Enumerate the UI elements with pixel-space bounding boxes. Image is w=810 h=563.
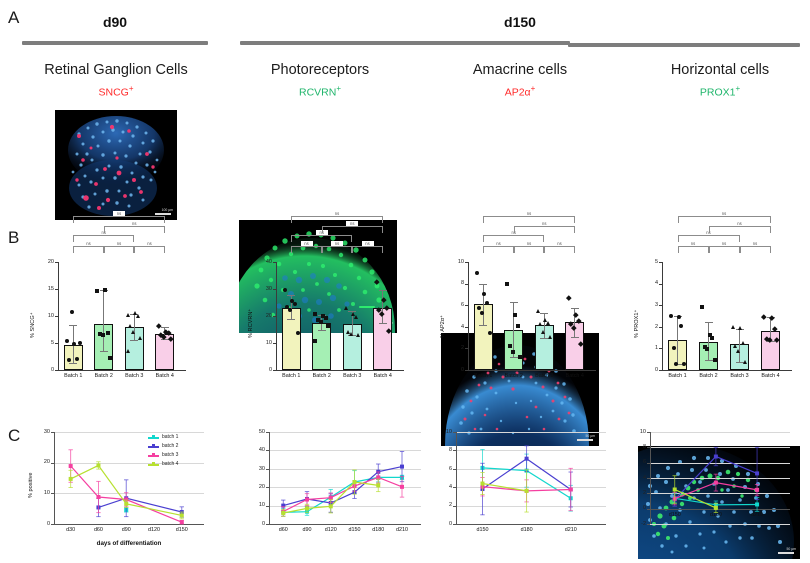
data-point <box>548 335 552 339</box>
series-marker <box>329 504 333 508</box>
data-point <box>313 312 317 316</box>
error-cap-bottom-1 <box>479 325 487 326</box>
data-point <box>731 325 735 329</box>
data-point <box>762 315 767 320</box>
y-tick-label: 6 <box>442 302 464 308</box>
error-cap-bottom-3 <box>130 340 138 341</box>
micrograph-sncg: 100 µm <box>55 110 177 220</box>
series-line-2 <box>283 467 402 506</box>
data-point <box>705 347 709 351</box>
series-marker <box>400 465 404 469</box>
ns-label-3: ns <box>749 241 761 246</box>
y-tick-label: 10 <box>442 259 464 265</box>
y-tick <box>659 370 662 371</box>
ns-bracket-1 <box>678 246 709 253</box>
line-chart-line-prox1: -20246810d150d180d210 <box>624 432 804 550</box>
series-marker <box>569 488 573 492</box>
line-chart-line-sncg: 0102030d30d60d90d120d150% positivedays o… <box>26 432 226 550</box>
data-point <box>743 360 747 364</box>
data-point <box>505 282 509 286</box>
data-point <box>106 331 110 335</box>
y-tick-label: 40 <box>250 259 272 265</box>
legend-marker-3 <box>152 453 155 456</box>
y-tick <box>659 348 662 349</box>
y-tick <box>55 289 58 290</box>
y-tick <box>465 348 468 349</box>
marker-label-1: SNCG+ <box>18 84 214 99</box>
series-marker <box>180 520 184 524</box>
ns-label-2: ns <box>113 241 125 246</box>
y-axis-title: % AP2α⁺ <box>440 315 446 338</box>
error-bar-3 <box>544 313 545 338</box>
series-marker <box>525 489 529 493</box>
data-point <box>78 341 82 345</box>
error-cap-top-1 <box>69 325 77 326</box>
x-tick-label-4: Batch 4 <box>365 373 401 379</box>
data-point <box>136 314 140 318</box>
series-layer <box>243 432 438 550</box>
group-title-d150: d150 <box>240 14 800 30</box>
data-point <box>710 336 714 340</box>
x-axis <box>662 370 792 371</box>
ns-label-2: ns <box>718 241 730 246</box>
series-marker <box>400 485 404 489</box>
ns-label-3: ns <box>554 241 566 246</box>
ns-bracket-5 <box>514 226 575 233</box>
y-tick <box>55 316 58 317</box>
error-cap-bottom-1 <box>69 363 77 364</box>
series-marker <box>673 488 677 492</box>
error-cap-top-4 <box>161 327 169 328</box>
marker-sup-3: + <box>531 84 536 93</box>
data-point <box>293 302 297 306</box>
series-marker <box>69 464 73 468</box>
data-point <box>677 315 681 319</box>
marker-label-4: PROX1+ <box>640 84 800 99</box>
data-point <box>108 356 112 360</box>
y-axis-title: % SNCG⁺ <box>30 312 36 338</box>
ns-label-6: ns <box>523 211 535 216</box>
series-marker <box>755 502 759 506</box>
data-point <box>70 310 74 314</box>
y-tick-label: 0 <box>636 367 658 373</box>
x-tick-label-4: Batch 4 <box>557 373 593 379</box>
y-tick <box>465 284 468 285</box>
error-bar-2 <box>103 290 104 351</box>
ns-bracket-2 <box>104 246 135 253</box>
data-point <box>669 314 673 318</box>
bar-chart-bar-ap2a: 0246810% AP2α⁺Batch 1Batch 2Batch 3Batch… <box>440 262 600 392</box>
data-point <box>354 315 358 319</box>
error-cap-top-1 <box>479 284 487 285</box>
ns-label-1: ns <box>301 241 313 246</box>
x-tick-label-4: Batch 4 <box>753 373 789 379</box>
error-cap-top-1 <box>287 295 295 296</box>
y-tick-label: 5 <box>32 340 54 346</box>
data-point <box>344 306 348 310</box>
ns-label-1: ns <box>687 241 699 246</box>
data-point <box>95 289 99 293</box>
legend-label-1: batch 1 <box>162 434 178 440</box>
celltype-title-1: Retinal Ganglion Cells <box>18 62 214 78</box>
error-bar-4 <box>382 290 383 322</box>
y-axis <box>58 262 59 371</box>
y-tick <box>55 370 58 371</box>
y-tick-label: 10 <box>250 340 272 346</box>
series-marker <box>755 471 759 475</box>
marker-label-3: AP2α+ <box>440 84 600 99</box>
marker-sup-2: + <box>336 84 341 93</box>
ns-bracket-6 <box>73 216 165 223</box>
ns-label-6: ns <box>331 211 343 216</box>
data-point <box>513 313 517 317</box>
data-point <box>101 333 105 337</box>
y-tick-label: 8 <box>442 280 464 286</box>
ns-bracket-4 <box>483 235 544 242</box>
data-point <box>103 288 107 292</box>
error-cap-bottom-1 <box>287 319 295 320</box>
error-cap-top-4 <box>379 290 387 291</box>
data-point <box>741 341 745 345</box>
x-axis <box>276 370 404 371</box>
series-marker <box>180 513 184 517</box>
group-rule-d90 <box>22 41 208 45</box>
series-layer <box>624 432 804 550</box>
data-point <box>374 279 379 284</box>
y-axis <box>276 262 277 371</box>
series-marker <box>281 511 285 515</box>
data-point <box>126 349 130 353</box>
error-cap-bottom-4 <box>571 337 579 338</box>
bar-chart-bar-prox1: 012345% PROX1⁺Batch 1Batch 2Batch 3Batch… <box>632 262 797 392</box>
series-marker <box>714 455 718 459</box>
ns-label-2: ns <box>523 241 535 246</box>
marker-sup-1: + <box>129 84 134 93</box>
y-tick-label: 20 <box>32 259 54 265</box>
data-point <box>566 295 571 300</box>
ns-label-1: ns <box>83 241 95 246</box>
data-point <box>738 326 742 330</box>
data-point <box>324 316 328 320</box>
legend-label-2: batch 2 <box>162 443 178 449</box>
ns-label-6: ns <box>113 211 125 216</box>
data-point <box>713 358 717 362</box>
data-point <box>518 355 522 359</box>
ns-label-2: ns <box>331 241 343 246</box>
y-tick <box>465 370 468 371</box>
error-cap-bottom-2 <box>100 351 108 352</box>
series-marker <box>480 482 484 486</box>
ns-bracket-1 <box>73 246 104 253</box>
data-point <box>326 324 330 328</box>
error-cap-bottom-4 <box>161 339 169 340</box>
data-point <box>126 313 130 317</box>
x-tick-label-4: Batch 4 <box>147 373 183 379</box>
y-tick-label: 3 <box>636 302 658 308</box>
data-point <box>511 350 515 354</box>
legend-marker-1 <box>152 435 155 438</box>
celltype-title-2: Photoreceptors <box>240 62 400 78</box>
y-tick <box>465 327 468 328</box>
data-point <box>488 331 492 335</box>
series-marker <box>124 502 128 506</box>
error-bar-2 <box>708 322 709 360</box>
data-point <box>131 330 135 334</box>
ns-bracket-4 <box>73 235 134 242</box>
y-tick-label: 4 <box>636 280 658 286</box>
y-tick <box>659 284 662 285</box>
series-marker <box>69 477 73 481</box>
data-point <box>508 344 512 348</box>
y-tick-label: 0 <box>442 367 464 373</box>
error-cap-bottom-3 <box>736 362 744 363</box>
marker-name-3: AP2α <box>505 87 531 99</box>
ns-label-1: ns <box>493 241 505 246</box>
ns-bracket-2 <box>709 246 740 253</box>
y-tick <box>273 262 276 263</box>
y-tick <box>55 343 58 344</box>
y-tick <box>465 305 468 306</box>
x-axis <box>468 370 596 371</box>
y-axis <box>662 262 663 371</box>
ns-bracket-6 <box>291 216 383 223</box>
y-tick-label: 0 <box>250 367 272 373</box>
series-marker <box>353 480 357 484</box>
ns-bracket-4 <box>678 235 740 242</box>
ns-bracket-6 <box>678 216 771 223</box>
data-point <box>682 362 686 366</box>
ns-bracket-3 <box>740 246 771 253</box>
ns-bracket-5 <box>104 226 165 233</box>
ns-bracket-3 <box>544 246 575 253</box>
series-marker <box>376 483 380 487</box>
series-marker <box>714 481 718 485</box>
legend-marker-4 <box>152 462 155 465</box>
ns-label-3: ns <box>362 241 374 246</box>
series-layer <box>26 432 226 550</box>
ns-bracket-6 <box>483 216 575 223</box>
data-point <box>296 331 300 335</box>
ns-bracket-2 <box>322 246 353 253</box>
y-tick <box>273 370 276 371</box>
panel-letter-c: C <box>8 426 20 446</box>
group-title-d90: d90 <box>22 14 208 30</box>
data-point <box>538 322 542 326</box>
error-cap-bottom-2 <box>510 357 518 358</box>
error-cap-bottom-4 <box>379 323 387 324</box>
data-point <box>736 349 740 353</box>
bar-chart-bar-rcvrn: 010203040% RCVRN⁺Batch 1Batch 2Batch 3Ba… <box>248 262 408 392</box>
error-cap-top-4 <box>571 308 579 309</box>
y-axis <box>468 262 469 371</box>
error-cap-top-2 <box>510 302 518 303</box>
legend-marker-2 <box>152 444 155 447</box>
data-point <box>541 330 545 334</box>
line-chart-line-rcvrn: 01020304050d60d90d120d150d180d210 <box>243 432 438 550</box>
data-point <box>319 320 323 324</box>
y-tick-label: 2 <box>442 345 464 351</box>
data-point <box>733 344 737 348</box>
y-tick <box>273 343 276 344</box>
marker-name-2: RCVRN <box>299 87 336 99</box>
data-point <box>536 309 540 313</box>
error-cap-top-3 <box>540 313 548 314</box>
y-tick <box>659 305 662 306</box>
ns-bracket-4 <box>291 235 352 242</box>
data-point <box>482 292 486 296</box>
ns-bracket-2 <box>514 246 545 253</box>
series-marker <box>329 496 333 500</box>
series-layer <box>432 432 627 550</box>
y-axis-title: % PROX1⁺ <box>634 310 640 338</box>
celltype-title-3: Amacrine cells <box>440 62 600 78</box>
ns-bracket-5 <box>322 226 383 233</box>
scale-bar-1 <box>155 213 171 215</box>
data-point <box>672 346 676 350</box>
marker-name-1: SNCG <box>98 87 128 99</box>
y-tick <box>659 327 662 328</box>
series-marker <box>305 498 309 502</box>
error-cap-bottom-2 <box>318 330 326 331</box>
series-marker <box>525 457 529 461</box>
ns-bracket-1 <box>291 246 322 253</box>
panel-letter-a: A <box>8 8 19 28</box>
bar-chart-bar-sncg: 05101520% SNCG⁺Batch 1Batch 2Batch 3Batc… <box>30 262 190 392</box>
y-tick <box>55 262 58 263</box>
scale-bar-4 <box>778 552 794 554</box>
series-marker <box>755 488 759 492</box>
group-rule-d150-left <box>240 41 570 45</box>
ns-bracket-3 <box>352 246 383 253</box>
ns-label-3: ns <box>144 241 156 246</box>
y-tick-label: 15 <box>32 286 54 292</box>
ns-bracket-3 <box>134 246 165 253</box>
data-point <box>283 288 287 292</box>
data-point <box>546 321 550 325</box>
ns-bracket-5 <box>709 226 771 233</box>
series-marker <box>714 506 718 510</box>
y-tick <box>273 289 276 290</box>
data-point <box>475 271 479 275</box>
y-tick <box>465 262 468 263</box>
celltype-title-4: Horizontal cells <box>640 62 800 78</box>
x-axis <box>58 370 186 371</box>
data-point <box>356 333 360 337</box>
data-point <box>679 324 683 328</box>
data-point <box>128 324 132 328</box>
y-tick-label: 5 <box>636 259 658 265</box>
panel-letter-b: B <box>8 228 19 248</box>
line-chart-line-ap2a: 0246810d150d180d210 <box>432 432 627 550</box>
legend-label-4: batch 4 <box>162 461 178 467</box>
data-point <box>480 311 484 315</box>
marker-name-4: PROX1 <box>700 87 736 99</box>
error-bar-3 <box>739 329 740 362</box>
y-tick <box>659 262 662 263</box>
y-axis-title: % RCVRN⁺ <box>248 309 254 338</box>
marker-label-2: RCVRN+ <box>240 84 400 99</box>
ns-bracket-1 <box>483 246 514 253</box>
marker-sup-4: + <box>735 84 740 93</box>
error-bar-1 <box>483 284 484 325</box>
error-bar-1 <box>677 316 678 364</box>
scale-text-1: 100 µm <box>162 208 173 212</box>
series-marker <box>96 463 100 467</box>
y-tick <box>273 316 276 317</box>
error-cap-top-2 <box>705 322 713 323</box>
micrograph-sncg-render <box>55 110 177 220</box>
data-point <box>700 305 704 309</box>
error-cap-bottom-3 <box>540 338 548 339</box>
group-rule-d150-right <box>568 43 800 47</box>
data-point <box>138 336 142 340</box>
series-marker <box>305 506 309 510</box>
y-tick-label: 0 <box>32 367 54 373</box>
error-bar-3 <box>134 314 135 340</box>
data-point <box>313 339 317 343</box>
series-marker <box>96 495 100 499</box>
data-point <box>573 312 578 317</box>
data-point <box>516 324 520 328</box>
data-point <box>349 332 353 336</box>
ns-label-6: ns <box>718 211 730 216</box>
y-tick-label: 1 <box>636 345 658 351</box>
error-cap-bottom-2 <box>705 360 713 361</box>
data-point <box>65 339 69 343</box>
legend-label-3: batch 3 <box>162 452 178 458</box>
y-tick-label: 30 <box>250 286 272 292</box>
